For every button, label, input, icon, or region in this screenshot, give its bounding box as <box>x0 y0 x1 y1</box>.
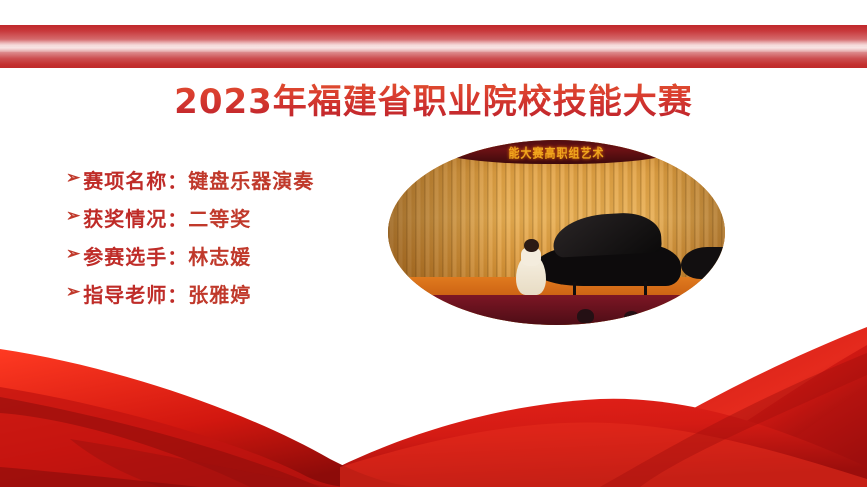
list-item: ➢ 获奖情况： 二等奖 <box>66 198 396 236</box>
list-item-label: 获奖情况： <box>83 203 188 232</box>
audience-head <box>577 309 594 323</box>
list-item: ➢ 参赛选手： 林志媛 <box>66 236 396 274</box>
stage-banner: 能大赛高职组艺术 <box>408 140 705 164</box>
list-item-label: 指导老师： <box>83 279 188 308</box>
bottom-silk-decoration <box>0 327 867 487</box>
arrow-bullet-icon: ➢ <box>66 246 81 263</box>
performance-photo: 能大赛高职组艺术 <box>388 140 725 325</box>
top-ribbon-band <box>0 25 867 68</box>
page-title: 2023年福建省职业院校技能大赛 <box>0 80 867 124</box>
audience-head <box>664 310 680 323</box>
list-item-label: 参赛选手： <box>83 241 188 270</box>
second-piano <box>681 247 725 278</box>
presentation-slide: 2023年福建省职业院校技能大赛 ➢ 赛项名称： 键盘乐器演奏 ➢ 获奖情况： … <box>0 0 867 487</box>
info-list: ➢ 赛项名称： 键盘乐器演奏 ➢ 获奖情况： 二等奖 ➢ 参赛选手： 林志媛 ➢… <box>66 160 396 312</box>
arrow-bullet-icon: ➢ <box>66 284 81 301</box>
stage-banner-text: 能大赛高职组艺术 <box>408 144 705 162</box>
audience-head <box>624 311 639 323</box>
arrow-bullet-icon: ➢ <box>66 208 81 225</box>
list-item-value: 张雅婷 <box>188 279 251 308</box>
performer-head <box>524 239 538 252</box>
list-item: ➢ 指导老师： 张雅婷 <box>66 274 396 312</box>
list-item-value: 键盘乐器演奏 <box>188 165 314 194</box>
arrow-bullet-icon: ➢ <box>66 170 81 187</box>
audience-head <box>428 310 444 323</box>
list-item-label: 赛项名称： <box>83 165 188 194</box>
list-item-value: 林志媛 <box>188 241 251 270</box>
list-item: ➢ 赛项名称： 键盘乐器演奏 <box>66 160 396 198</box>
audience-seating <box>388 295 725 325</box>
list-item-value: 二等奖 <box>188 203 251 232</box>
